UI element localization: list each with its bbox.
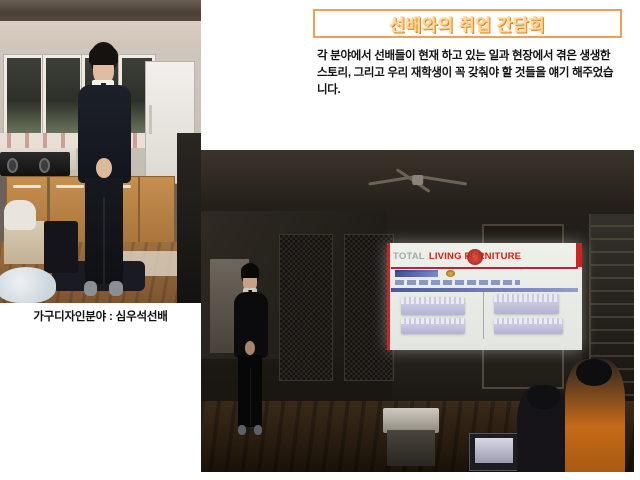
clasped-hands — [96, 158, 112, 178]
screen-accent-bar — [576, 243, 582, 266]
sock — [109, 281, 122, 296]
photo-right-presentation: TOTAL LIVING FURNITURE — [201, 150, 634, 472]
slide-body-paragraph: 각 분야에서 선배들이 현재 하고 있는 일과 현장에서 겪은 생생한 스토리,… — [317, 48, 617, 99]
ceiling-fan-icon — [368, 173, 468, 189]
sock — [238, 425, 247, 435]
fan-hub — [413, 175, 424, 185]
divider-line — [391, 267, 578, 269]
mattress-image — [494, 294, 558, 313]
gas-stove — [0, 152, 70, 176]
head — [576, 359, 612, 386]
cabinet-door — [139, 176, 175, 245]
audience-member — [565, 359, 626, 472]
screen-accent-bar — [387, 243, 390, 349]
head — [527, 385, 559, 409]
mattress-image — [494, 318, 562, 334]
mattress-top — [494, 294, 558, 302]
hair — [89, 45, 118, 65]
mattress-top — [494, 318, 562, 325]
trousers — [85, 178, 122, 284]
burner-knob — [7, 158, 18, 173]
cabinet-handle — [13, 185, 41, 188]
white-bag — [4, 200, 36, 230]
page-title: 선배와의 취업 간담회 — [390, 11, 546, 36]
slide-emblem — [446, 270, 456, 277]
laptop — [469, 433, 519, 470]
audience-member — [517, 385, 569, 472]
presenter-person — [231, 263, 270, 434]
projected-screen: TOTAL LIVING FURNITURE — [387, 243, 582, 349]
slide-banner-bar — [391, 288, 578, 292]
photo-left-caption: 가구디자인분야 : 심우석선배 — [0, 308, 201, 324]
presentation-slide: 가구디자인분야 : 심우석선배 선배와의 취업 간담회 각 분야에서 선배들이 … — [0, 0, 640, 480]
mesh-door — [344, 234, 394, 381]
fan-blade — [422, 175, 468, 185]
black-bag — [44, 221, 78, 273]
sock — [254, 425, 263, 435]
mattress-top — [401, 318, 465, 325]
cushion — [0, 267, 56, 303]
hair — [241, 264, 260, 278]
window-pane — [4, 55, 44, 140]
dark-furniture-edge — [177, 133, 201, 303]
mattress-image — [401, 318, 465, 334]
slide-title-box: 선배와의 취업 간담회 — [313, 9, 622, 38]
mattress-top — [401, 297, 465, 305]
red-seal-mark — [467, 249, 483, 265]
mesh-door — [279, 234, 333, 381]
sock — [84, 281, 97, 296]
mattress-image — [401, 297, 465, 315]
slide-subtext — [395, 280, 520, 285]
ceiling — [0, 0, 201, 21]
photo-left-speaker — [0, 0, 201, 303]
slide-badge — [395, 270, 438, 277]
trousers — [238, 355, 262, 427]
burner-knob — [39, 158, 50, 173]
speaker-person — [74, 42, 134, 293]
projected-slide-title: TOTAL LIVING FURNITURE — [393, 248, 576, 266]
projected-title-total: TOTAL — [393, 251, 425, 262]
slide-column-divider — [483, 292, 484, 339]
projector-stand — [387, 430, 435, 465]
